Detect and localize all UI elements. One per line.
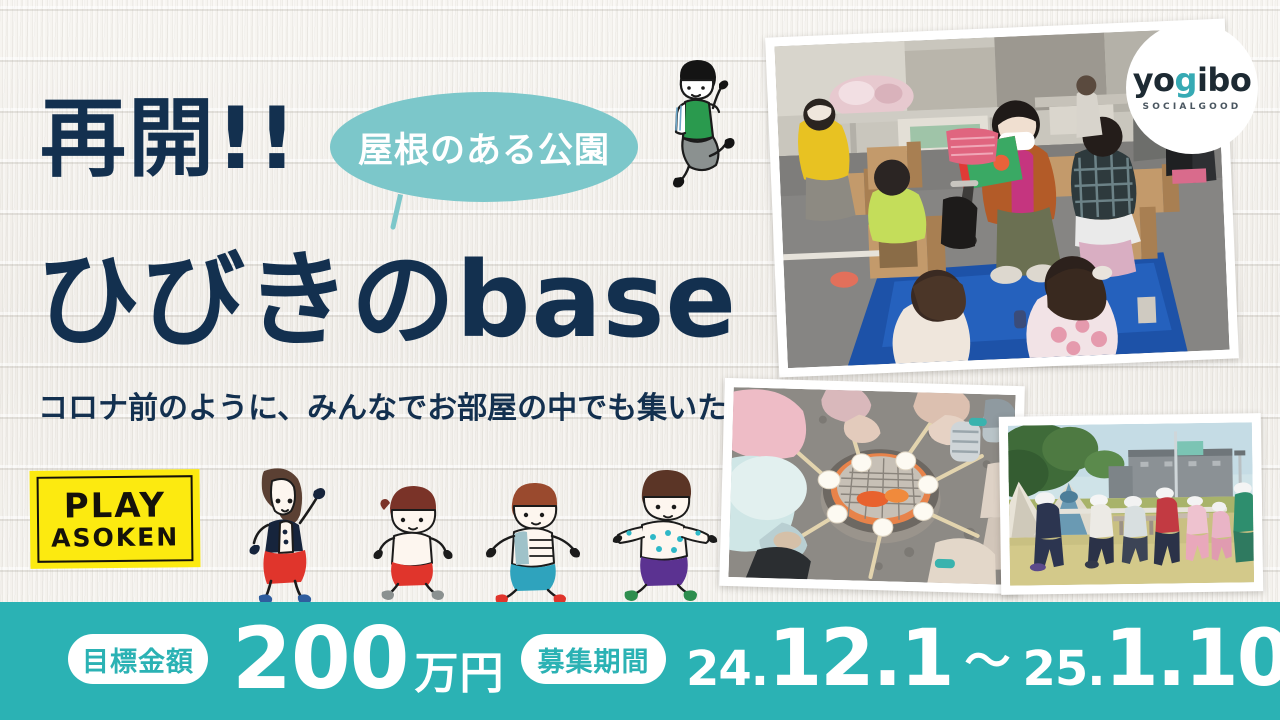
goal-amount-value: 200万円 — [232, 616, 505, 702]
goal-amount-unit: 万円 — [415, 652, 505, 696]
period-end-year: 25. — [1022, 645, 1104, 693]
period-start-date: 12.1 — [768, 620, 952, 698]
goal-amount-number: 200 — [232, 616, 409, 702]
play-asoken-line1: PLAY — [64, 488, 167, 523]
jumping-boy-green-vest-icon — [655, 50, 755, 200]
goal-amount-label: 目標金額 — [68, 634, 208, 684]
running-boy-polka-dot-shirt-icon — [612, 465, 724, 605]
photo-marshmallow-roasting-image — [728, 387, 1015, 585]
period-separator: 〜 — [964, 638, 1010, 684]
speech-bubble: 屋根のある公園 — [330, 92, 638, 202]
yogibo-word-part2: g — [1175, 61, 1197, 99]
photo-camp-field — [999, 413, 1263, 595]
speech-bubble-label: 屋根のある公園 — [358, 122, 610, 173]
yogibo-word-part1: yo — [1133, 61, 1175, 99]
yogibo-word-part3: ibo — [1197, 61, 1251, 99]
running-girl-red-skirt-icon — [238, 463, 348, 605]
period-start-year: 24. — [686, 645, 768, 693]
campaign-poster: 再開!! 屋根のある公園 ひびきのbase コロナ — [0, 0, 1280, 720]
campaign-info-band: 目標金額 200万円 募集期間 24.12.1〜25.1.10 — [0, 602, 1280, 720]
campaign-period-value: 24.12.1〜25.1.10 — [686, 620, 1280, 698]
page-headline: 再開!! — [40, 96, 298, 182]
page-title: ひびきのbase — [36, 248, 737, 352]
yogibo-wordmark: yogibo — [1133, 64, 1252, 96]
running-girl-red-shorts-icon — [370, 482, 466, 602]
yogibo-subtitle: SOCIALGOOD — [1143, 103, 1242, 112]
photo-marshmallow-roasting — [719, 378, 1025, 594]
period-end-date: 1.10 — [1105, 620, 1280, 698]
period-label: 募集期間 — [521, 634, 666, 684]
photo-camp-field-image — [1008, 422, 1254, 585]
speech-bubble-body: 屋根のある公園 — [330, 92, 638, 202]
play-asoken-line2: ASOKEN — [51, 524, 179, 550]
page-tagline: コロナ前のように、みんなでお部屋の中でも集いたい。 — [38, 383, 787, 427]
play-asoken-logo: PLAY ASOKEN — [29, 469, 200, 569]
running-boy-striped-shirt-icon — [484, 480, 594, 608]
yogibo-socialgood-logo: yogibo SOCIALGOOD — [1126, 22, 1258, 154]
